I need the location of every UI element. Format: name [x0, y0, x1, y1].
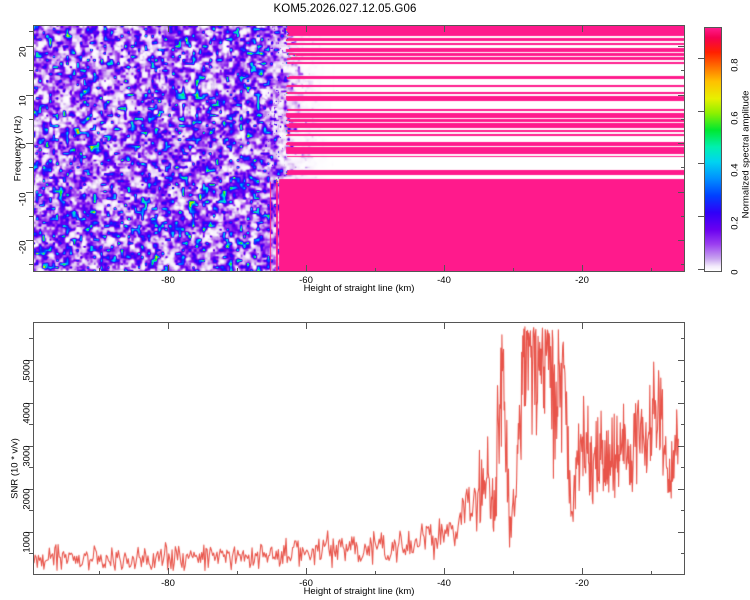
snr-xaxis-label: Height of straight line (km): [199, 586, 519, 597]
colorbar-tick-label-1: 0.2: [730, 217, 741, 257]
snr-ytick-label-1: 2000: [22, 489, 33, 529]
snr-xtick-label-0: -80: [148, 578, 188, 589]
colorbar: [704, 27, 722, 272]
spectrogram-yaxis-label: Frequency (Hz): [13, 104, 24, 194]
snr-axes: [33, 322, 685, 575]
figure-title: KOM5.2026.027.12.05.G06: [0, 3, 690, 15]
colorbar-tick-label-3: 0.6: [730, 112, 741, 152]
spectrogram-canvas: [34, 26, 684, 271]
spectrogram-xtick-label-0: -80: [148, 275, 188, 286]
snr-xtick-label-3: -20: [562, 578, 602, 589]
colorbar-tick-label-4: 0.8: [730, 59, 741, 99]
spectrogram-xaxis-label: Height of straight line (km): [199, 283, 519, 294]
spectrogram-xtick-label-3: -20: [562, 275, 602, 286]
colorbar-tick-label-2: 0.4: [730, 164, 741, 204]
snr-ytick-label-3: 4000: [22, 403, 33, 443]
spectrogram-ytick-label-4: 20: [18, 47, 29, 87]
spectrogram-axes: [33, 25, 685, 272]
snr-ytick-label-4: 5000: [22, 360, 33, 400]
spectrogram-ytick-label-1: -10: [18, 193, 29, 233]
colorbar-label: Normalized spectral amplitude: [741, 75, 750, 235]
snr-ytick-label-0: 1000: [22, 532, 33, 572]
snr-ytick-label-2: 3000: [22, 446, 33, 486]
spectrogram-ytick-label-0: -20: [18, 241, 29, 281]
figure-root: KOM5.2026.027.12.05.G06 -80 -60 -40 -20 …: [0, 0, 750, 600]
snr-canvas: [34, 323, 684, 574]
colorbar-tick-label-0: 0: [730, 270, 741, 310]
snr-yaxis-label: SNR (10 * v/v): [10, 424, 21, 514]
